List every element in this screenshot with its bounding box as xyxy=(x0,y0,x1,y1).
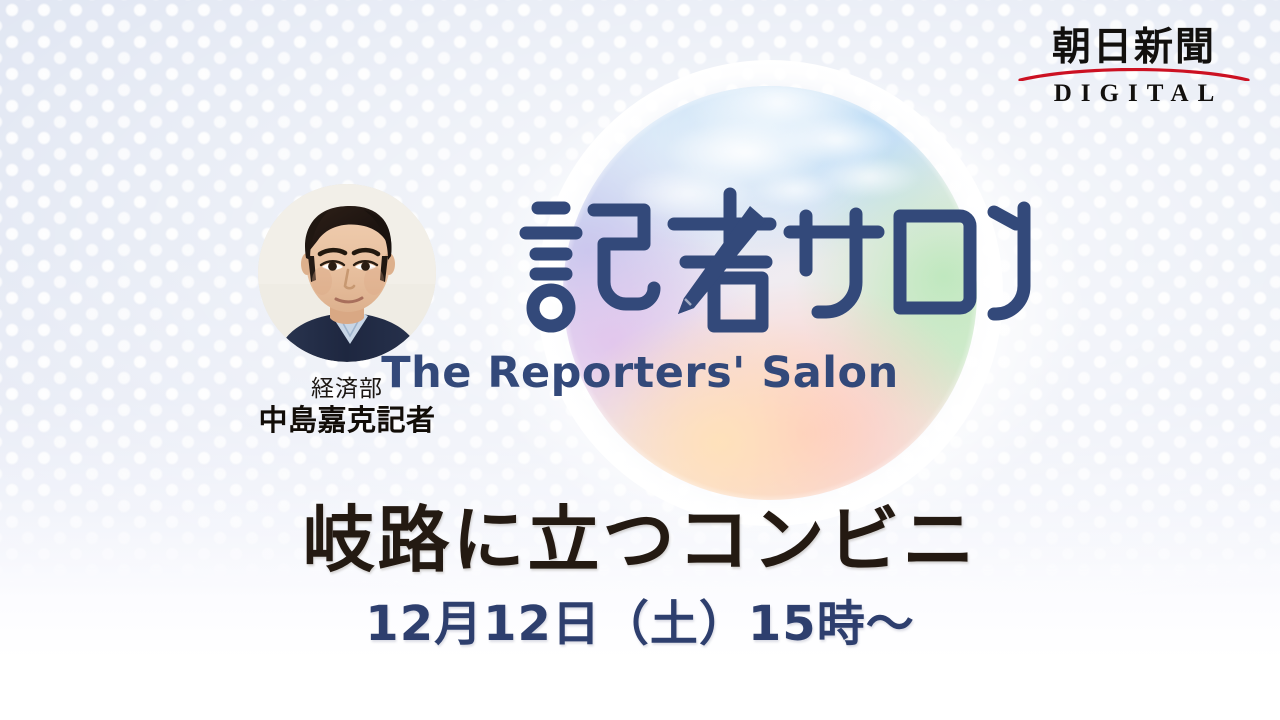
presenter-avatar xyxy=(258,184,436,362)
poster-canvas: 朝日新聞 DIGITAL xyxy=(0,0,1280,720)
presenter-department: 経済部 xyxy=(222,376,472,402)
brand-name-en: DIGITAL xyxy=(1018,80,1250,107)
presenter-name: 中島嘉克記者 xyxy=(222,404,472,437)
event-date: 12月12日（土）15時〜 xyxy=(0,598,1280,651)
asahi-shimbun-digital-logo: 朝日新聞 DIGITAL xyxy=(1018,28,1250,107)
iridescent-sphere xyxy=(563,86,977,500)
brand-red-arc-icon xyxy=(1018,68,1250,81)
brand-name-jp: 朝日新聞 xyxy=(1018,28,1250,69)
presenter-photo-illustration xyxy=(258,184,436,362)
sphere-highlight xyxy=(563,86,977,500)
event-headline: 岐路に立つコンビニ xyxy=(0,502,1280,580)
sphere-body xyxy=(563,86,977,500)
